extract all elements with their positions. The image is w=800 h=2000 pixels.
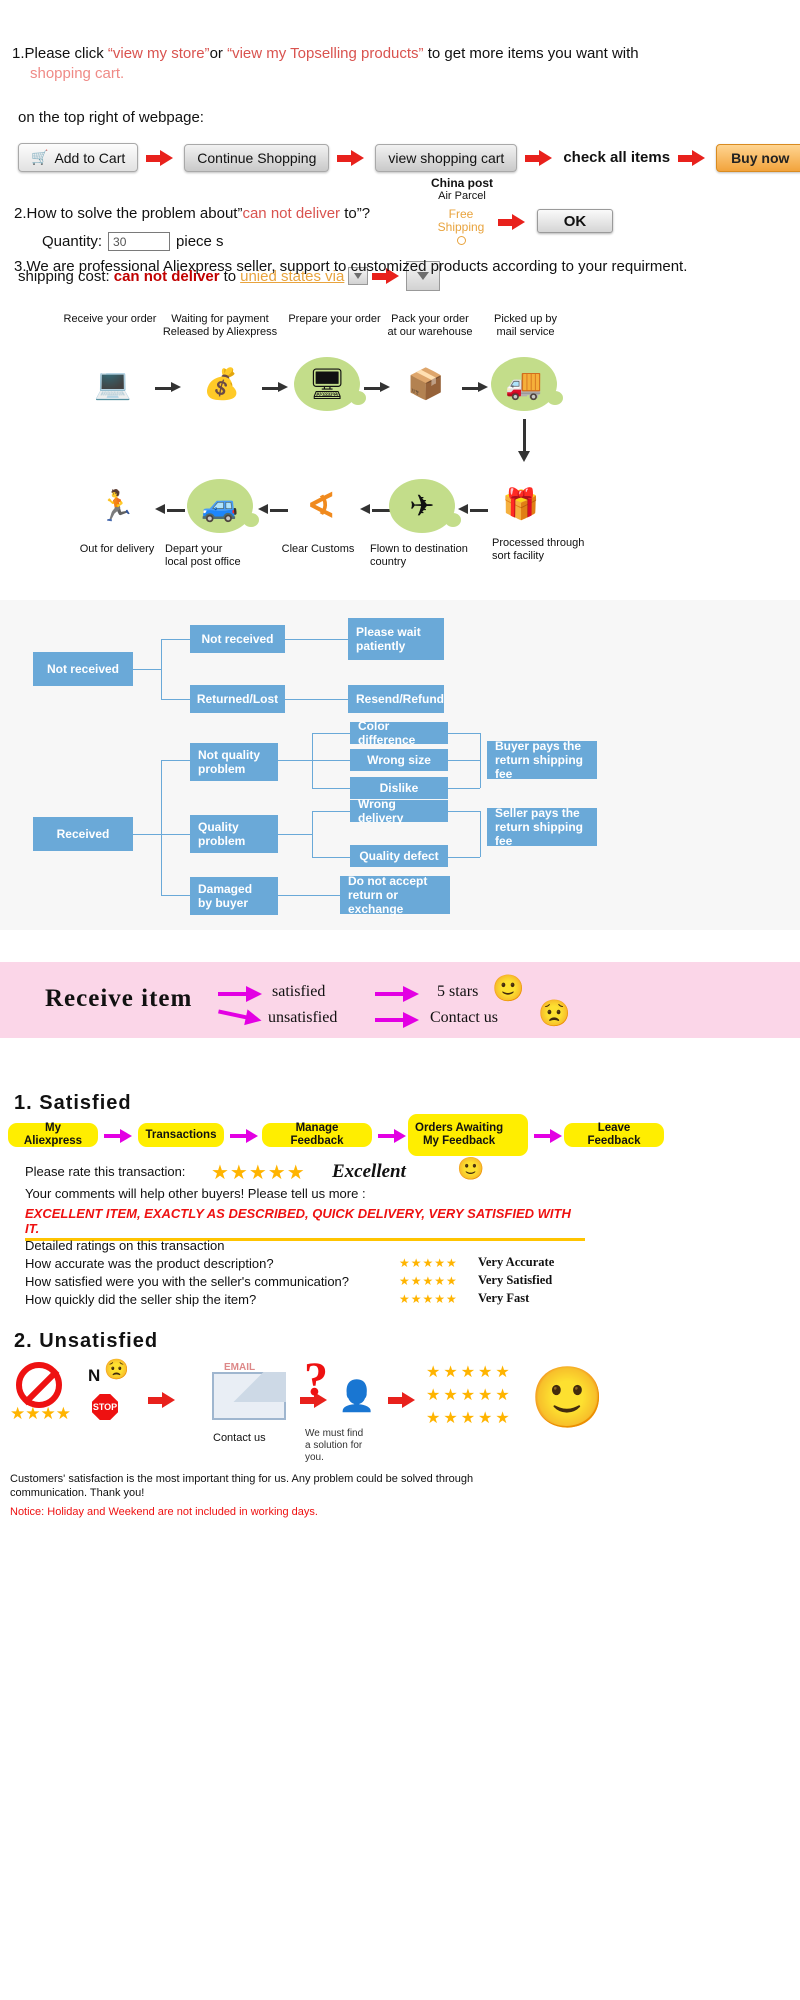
view-shopping-cart-button[interactable]: view shopping cart [375, 144, 517, 172]
rating-stars[interactable]: ★★★★★ [211, 1160, 306, 1185]
checkout-steps-row: 🛒 Add to Cart Continue Shopping view sho… [18, 143, 800, 172]
flow-connector [278, 895, 340, 896]
flow-connector [278, 834, 312, 835]
flow-connector [448, 857, 480, 858]
must-find-solution-caption: We must finda solution foryou. [305, 1428, 363, 1464]
add-to-cart-label: Add to Cart [54, 150, 125, 166]
flow-node-quality-problem: Qualityproblem [190, 815, 278, 853]
detailed-rating-verdict: Very Fast [478, 1291, 529, 1306]
flow-connector [278, 760, 312, 761]
process-step-label: Out for delivery [62, 543, 172, 556]
flow-node-dislike: Dislike [350, 777, 448, 799]
flow-node-buyer-pays: Buyer pays thereturn shipping fee [487, 741, 597, 779]
ok-button-label: OK [564, 213, 587, 230]
no-label: N [88, 1366, 100, 1386]
step-transactions[interactable]: Transactions [138, 1123, 224, 1147]
check-all-items-label: check all items [563, 149, 670, 166]
flow-connector [161, 639, 190, 640]
flow-node-please-wait: Please wait patiently [348, 618, 444, 660]
section2-heading-post: to”? [340, 205, 370, 222]
arrow-right-icon [375, 1014, 419, 1026]
arrow-right-icon [148, 1392, 202, 1410]
feedback-comment-text: EXCELLENT ITEM, EXACTLY AS DESCRIBED, QU… [25, 1206, 585, 1241]
prohibition-icon [16, 1362, 62, 1408]
flow-connector [161, 699, 190, 700]
carrier-name: China post [419, 176, 505, 190]
satisfaction-note-line2: communication. Thank you! [10, 1487, 144, 1499]
monitor-icon: 🖥 [290, 353, 364, 415]
flow-node-not-received-root: Not received [33, 652, 133, 686]
quantity-row: Quantity: piece s [42, 232, 224, 251]
arrow-right-icon [146, 150, 176, 166]
detailed-rating-stars[interactable]: ★★★★★ [399, 1256, 458, 1270]
arrow-right-icon [104, 1131, 134, 1141]
flow-connector [133, 669, 161, 670]
flow-connector [448, 788, 480, 789]
person-icon: 👤 [338, 1382, 375, 1412]
carrier-type: Air Parcel [419, 190, 505, 202]
process-step-label: Flown to destinationcountry [370, 543, 480, 569]
process-step-label: Receive your order [55, 313, 165, 326]
sort-facility-icon: 🎁 [484, 473, 558, 535]
continue-shopping-button[interactable]: Continue Shopping [184, 144, 329, 172]
flow-connector [448, 733, 480, 734]
process-step-label: Processed throughsort facility [492, 537, 602, 563]
section1-line1-post: to get more items you want with [424, 45, 639, 62]
section2-heading-pre: 2.How to solve the problem about” [14, 205, 242, 222]
step-leave-feedback[interactable]: Leave Feedback [564, 1123, 664, 1147]
sad-face-icon: 😟 [538, 1000, 570, 1026]
shopping-cart-icon: 🛒 [31, 149, 48, 166]
flow-connector [312, 857, 350, 858]
happy-face-icon: 🙂 [457, 1158, 484, 1180]
free-shipping-label: Free Shipping [438, 207, 485, 234]
arrow-right-icon [262, 383, 292, 395]
money-bag-icon: 💰 [185, 353, 259, 415]
flow-node-resend-refund: Resend/Refund [348, 685, 444, 713]
courier-running-icon: 🏃 [80, 475, 154, 537]
flow-node-not-quality-problem: Not qualityproblem [190, 743, 278, 781]
detailed-rating-question: How quickly did the seller ship the item… [25, 1292, 256, 1307]
dispute-flowchart: Not received Not received Returned/Lost … [0, 600, 800, 930]
section2-heading-red: can not deliver [242, 205, 340, 222]
email-envelope-icon [212, 1372, 286, 1420]
page-root: 1.Please click “view my store”or “view m… [0, 0, 800, 2000]
view-topselling-link[interactable]: “view my Topselling products” [227, 45, 423, 62]
process-step-label: Picked up bymail service [478, 313, 573, 339]
add-to-cart-button[interactable]: 🛒 Add to Cart [18, 143, 138, 172]
detailed-rating-question: How satisfied were you with the seller's… [25, 1274, 349, 1289]
satisfaction-note: Customers' satisfaction is the most impo… [10, 1472, 610, 1500]
satisfaction-note-line1: Customers' satisfaction is the most impo… [10, 1473, 473, 1485]
email-label: EMAIL [224, 1362, 255, 1373]
section2-heading: 2.How to solve the problem about”can not… [14, 205, 370, 222]
process-step-label: Depart yourlocal post office [165, 543, 265, 569]
detailed-rating-verdict: Very Accurate [478, 1255, 554, 1270]
arrow-left-icon [155, 505, 185, 517]
process-step-label: Prepare your order [282, 313, 387, 326]
quantity-input[interactable] [108, 232, 170, 251]
star-row: ★★★★★ [426, 1362, 513, 1382]
flow-connector [161, 895, 190, 896]
flow-connector [161, 760, 190, 761]
flow-connector [161, 760, 162, 895]
detailed-rating-verdict: Very Satisfied [478, 1273, 552, 1288]
shipping-process-diagram: Receive your order Waiting for paymentRe… [0, 305, 800, 590]
quantity-unit-label: piece s [176, 233, 224, 250]
arrow-right-icon [337, 150, 367, 166]
delivery-truck-icon: 🚚 [487, 353, 561, 415]
step-manage-feedback[interactable]: Manage Feedback [262, 1123, 372, 1147]
flow-connector [161, 834, 190, 835]
arrow-down-icon [518, 419, 530, 463]
continue-shopping-label: Continue Shopping [197, 150, 316, 166]
flow-node-wrong-delivery: Wrong delivery [350, 800, 448, 822]
receive-item-title: Receive item [45, 985, 192, 1013]
arrow-right-icon [525, 150, 555, 166]
arrow-right-icon [230, 1131, 260, 1141]
flow-connector [480, 811, 481, 857]
flow-connector [480, 733, 481, 788]
unsatisfied-label: unsatisfied [268, 1009, 337, 1027]
arrow-right-icon [375, 988, 419, 1000]
flow-connector [312, 760, 350, 761]
worried-face-icon: 😟 [104, 1360, 129, 1380]
smiley-face-icon: 🙂 [530, 1368, 605, 1428]
flow-node-quality-defect: Quality defect [350, 845, 448, 867]
satisfied-heading: 1. Satisfied [14, 1092, 132, 1115]
ok-button[interactable]: OK [537, 209, 613, 233]
flow-connector [312, 733, 350, 734]
section1-or: or [210, 45, 228, 62]
step-my-aliexpress[interactable]: My Aliexpress [8, 1123, 98, 1147]
detailed-rating-question: How accurate was the product description… [25, 1256, 274, 1271]
holiday-notice: Notice: Holiday and Weekend are not incl… [10, 1506, 318, 1518]
flow-node-received-root: Received [33, 817, 133, 851]
flow-connector [285, 639, 348, 640]
stop-sign-icon: STOP [92, 1394, 118, 1420]
buy-now-label: Buy now [731, 150, 789, 166]
contact-us-label: Contact us [430, 1009, 498, 1027]
stop-label: STOP [93, 1402, 117, 1412]
flow-connector [312, 811, 350, 812]
customs-icon: ∢ [284, 475, 358, 537]
rating-word: Excellent [332, 1161, 406, 1183]
flow-connector [312, 788, 350, 789]
step-orders-awaiting-my-feedback[interactable]: Orders AwaitingMy Feedback [408, 1114, 528, 1156]
happy-face-icon: 🙂 [492, 975, 524, 1001]
flow-connector [161, 639, 162, 699]
buy-now-button[interactable]: Buy now [716, 144, 800, 172]
section1-line2: shopping cart. [30, 65, 124, 82]
radio-button-icon[interactable] [457, 236, 466, 245]
flow-node-color-difference: Color difference [350, 722, 448, 744]
arrow-right-icon [678, 150, 708, 166]
process-step-label: Waiting for paymentReleased by Aliexpres… [160, 313, 280, 339]
receive-item-banner: Receive item satisfied unsatisfied 5 sta… [0, 962, 800, 1038]
arrow-right-icon [217, 1006, 263, 1027]
flow-node-returned-lost: Returned/Lost [190, 685, 285, 713]
view-shopping-cart-label: view shopping cart [388, 150, 504, 166]
arrow-right-icon [378, 1131, 408, 1141]
airplane-icon: ✈ [385, 475, 459, 537]
section1-line1-pre: 1.Please click [12, 45, 108, 62]
process-step-label: Pack your orderat our warehouse [380, 313, 480, 339]
arrow-right-icon [534, 1131, 564, 1141]
star-row: ★★★★★ [426, 1385, 513, 1405]
post-van-icon: 🚙 [183, 475, 257, 537]
flow-connector [448, 760, 480, 761]
question-mark-icon: ? [304, 1352, 328, 1407]
flow-node-damaged-by-buyer: Damagedby buyer [190, 877, 278, 915]
section1-line3: on the top right of webpage: [18, 109, 204, 126]
flow-node-not-received: Not received [190, 625, 285, 653]
arrow-right-icon [498, 214, 528, 230]
section3-heading: 3.We are professional Aliexpress seller,… [14, 258, 687, 275]
carrier-block: China post Air Parcel [419, 176, 505, 202]
free-shipping-option[interactable]: Free Shipping [424, 208, 498, 245]
satisfied-label: satisfied [272, 983, 325, 1001]
rate-transaction-label: Please rate this transaction: [25, 1164, 185, 1179]
section1-line1: 1.Please click “view my store”or “view m… [12, 45, 639, 62]
star-row: ★★★★★ [426, 1408, 513, 1428]
flow-node-no-return: Do not acceptreturn or exchange [340, 876, 450, 914]
process-step-label: Clear Customs [268, 543, 368, 556]
flow-connector [285, 699, 348, 700]
comments-prompt: Your comments will help other buyers! Pl… [25, 1186, 366, 1201]
detailed-rating-stars[interactable]: ★★★★★ [399, 1292, 458, 1306]
unsatisfied-heading: 2. Unsatisfied [14, 1330, 158, 1353]
detailed-ratings-heading: Detailed ratings on this transaction [25, 1238, 224, 1253]
five-stars-label: 5 stars [437, 983, 478, 1001]
quantity-label: Quantity: [42, 233, 102, 250]
contact-us-caption: Contact us [213, 1432, 266, 1444]
flow-node-seller-pays: Seller pays thereturn shipping fee [487, 808, 597, 846]
flow-connector [312, 811, 313, 857]
flow-node-wrong-size: Wrong size [350, 749, 448, 771]
desk-computer-icon: 💻 [76, 353, 150, 415]
flow-connector [448, 811, 480, 812]
flow-connector [133, 834, 161, 835]
detailed-rating-stars[interactable]: ★★★★★ [399, 1274, 458, 1288]
arrow-right-icon [155, 383, 185, 395]
low-rating-stars: ★★★★ [10, 1404, 71, 1424]
worker-boxes-icon: 📦 [389, 353, 463, 415]
view-my-store-link[interactable]: “view my store” [108, 45, 210, 62]
arrow-right-icon [218, 988, 262, 1000]
